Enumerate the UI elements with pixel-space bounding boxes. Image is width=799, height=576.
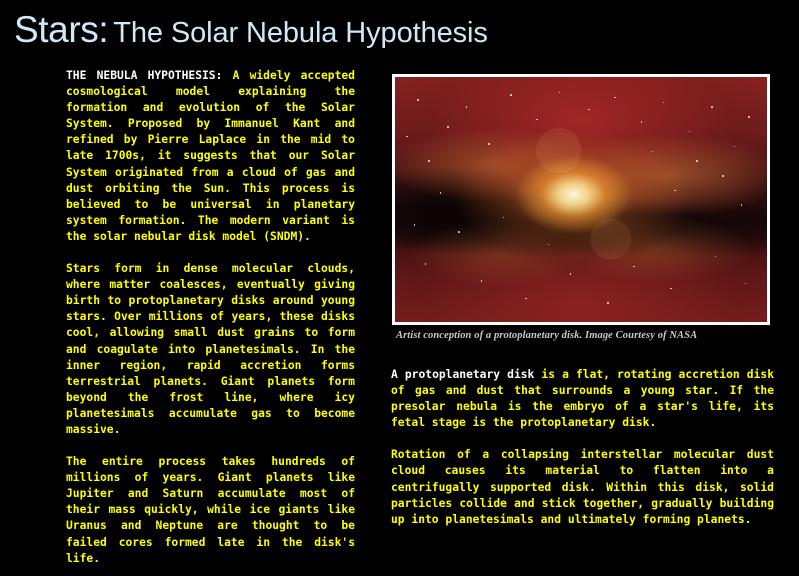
- paragraph-star-formation: Stars form in dense molecular clouds, wh…: [66, 261, 355, 438]
- paragraph-lead-in: THE NEBULA HYPOTHESIS:: [66, 69, 222, 82]
- paragraph-protoplanetary-disk: A protoplanetary disk is a flat, rotatin…: [391, 367, 774, 431]
- left-text-column: THE NEBULA HYPOTHESIS: A widely accepted…: [66, 68, 355, 567]
- slide-canvas: Stars:The Solar Nebula Hypothesis THE NE…: [0, 0, 799, 576]
- title-subtitle: The Solar Nebula Hypothesis: [113, 17, 488, 49]
- paragraph-nebula-hypothesis: THE NEBULA HYPOTHESIS: A widely accepted…: [66, 68, 355, 245]
- paragraph-body: The entire process takes hundreds of mil…: [66, 455, 355, 565]
- page-title: Stars:The Solar Nebula Hypothesis: [14, 8, 774, 54]
- figure-caption: Artist conception of a protoplanetary di…: [396, 330, 776, 341]
- protoplanetary-disk-image: [392, 74, 770, 325]
- paragraph-body: A widely accepted cosmological model exp…: [66, 69, 355, 243]
- title-main: Stars:: [14, 9, 108, 50]
- nebula-texture: [395, 77, 767, 322]
- paragraph-disk-rotation: Rotation of a collapsing interstellar mo…: [391, 447, 774, 527]
- right-text-column: A protoplanetary disk is a flat, rotatin…: [391, 367, 774, 528]
- paragraph-body: Rotation of a collapsing interstellar mo…: [391, 448, 774, 525]
- paragraph-body: Stars form in dense molecular clouds, wh…: [66, 262, 355, 436]
- paragraph-planet-growth: The entire process takes hundreds of mil…: [66, 454, 355, 567]
- paragraph-lead-in: A protoplanetary disk: [391, 368, 534, 381]
